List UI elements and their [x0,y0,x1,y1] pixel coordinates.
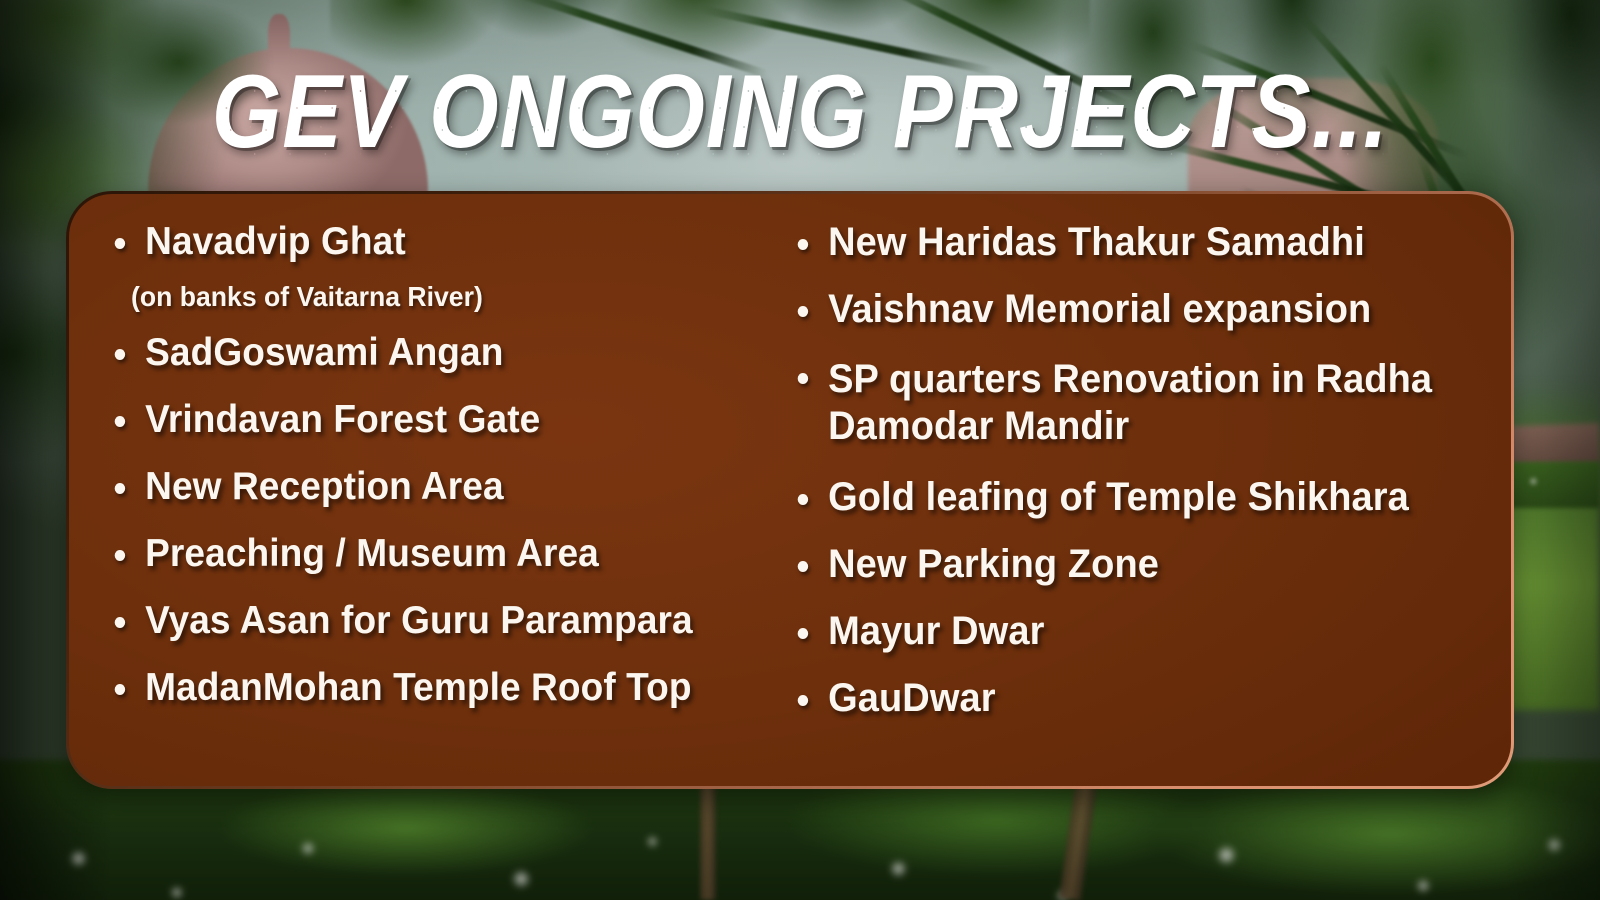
list-item-label: MadanMohan Temple Roof Top [145,666,692,709]
list-item-label: Gold leafing of Temple Shikhara [828,475,1409,519]
list-item[interactable]: Gold leafing of Temple Shikhara [792,477,1475,517]
list-item-label: SP quarters Renovation in Radha Damodar … [828,357,1432,448]
list-item[interactable]: SP quarters Renovation in Radha Damodar … [792,356,1455,450]
list-item[interactable]: Preaching / Museum Area [109,534,733,573]
list-item-label: SadGoswami Angan [145,331,503,374]
list-item-note: (on banks of Vaitarna River) [131,283,734,311]
page-title: GEV ONGOING PRJECTS... [212,58,1389,166]
title-container: GEV ONGOING PRJECTS... [0,58,1600,166]
projects-panel-inner: Navadvip Ghat (on banks of Vaitarna Rive… [69,194,1511,786]
list-item[interactable]: New Parking Zone [792,544,1475,584]
projects-list-left: Navadvip Ghat (on banks of Vaitarna Rive… [109,222,766,707]
list-item[interactable]: Navadvip Ghat [109,222,733,261]
list-item-label: Preaching / Museum Area [145,532,599,575]
list-item-label: GauDwar [828,676,995,720]
list-item-label: Navadvip Ghat [145,220,406,263]
projects-column-left: Navadvip Ghat (on banks of Vaitarna Rive… [69,194,766,786]
projects-list-right: New Haridas Thakur Samadhi Vaishnav Memo… [792,222,1511,718]
list-item-label: Vrindavan Forest Gate [145,398,540,441]
list-item[interactable]: MadanMohan Temple Roof Top [109,668,733,707]
list-item[interactable]: Vrindavan Forest Gate [109,400,733,439]
list-item-label: Mayur Dwar [828,609,1044,653]
list-item-label: Vyas Asan for Guru Parampara [145,599,693,642]
list-item[interactable]: GauDwar [792,678,1475,718]
list-item[interactable]: SadGoswami Angan [109,333,733,372]
list-item-label: New Parking Zone [828,542,1159,586]
list-item[interactable]: Vaishnav Memorial expansion [792,289,1475,329]
list-item[interactable]: Mayur Dwar [792,611,1475,651]
list-item-label: Vaishnav Memorial expansion [828,287,1371,331]
list-item[interactable]: Vyas Asan for Guru Parampara [109,601,733,640]
slide-canvas: GEV ONGOING PRJECTS... Navadvip Ghat (on… [0,0,1600,900]
tree-trunk [700,770,716,900]
list-item-label: New Reception Area [145,465,504,508]
list-item-label: New Haridas Thakur Samadhi [828,220,1365,264]
list-item[interactable]: New Haridas Thakur Samadhi [792,222,1475,262]
projects-panel: Navadvip Ghat (on banks of Vaitarna Rive… [66,191,1514,789]
projects-column-right: New Haridas Thakur Samadhi Vaishnav Memo… [766,194,1511,786]
list-item[interactable]: New Reception Area [109,467,733,506]
